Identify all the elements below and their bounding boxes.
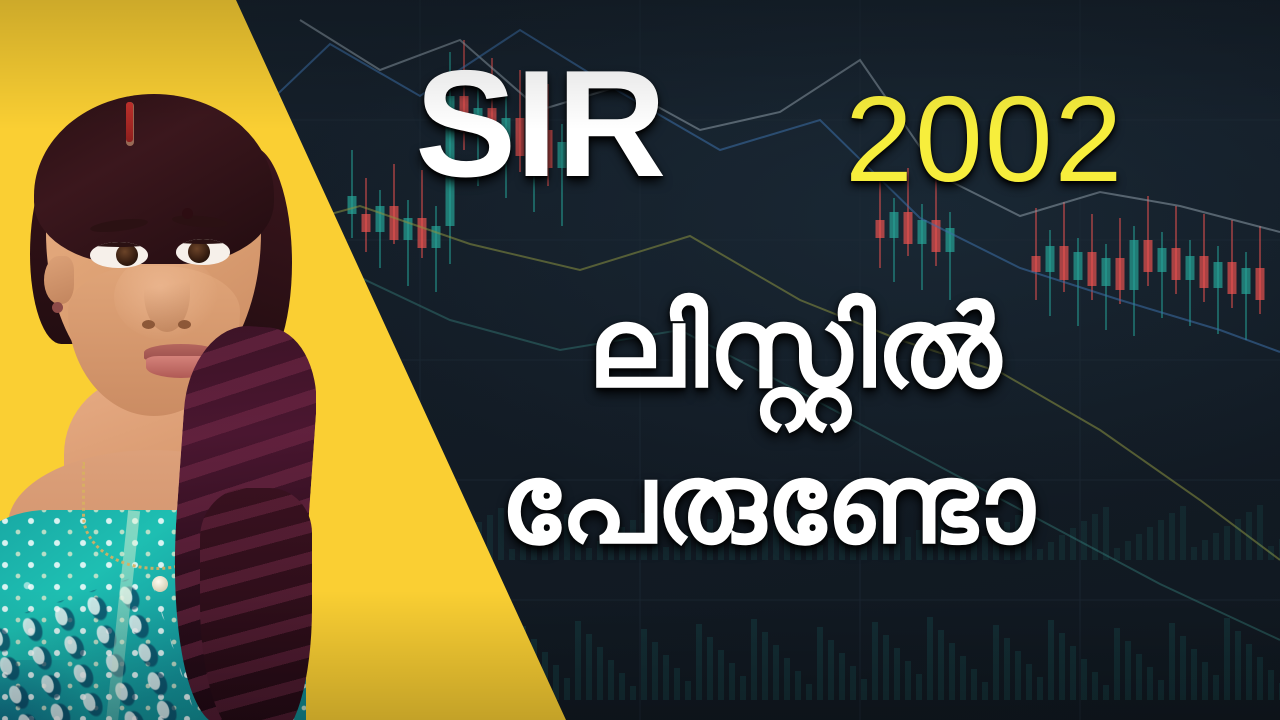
iris-left	[116, 244, 138, 266]
eyelash-right	[176, 239, 230, 244]
presenter-eye-right	[176, 239, 230, 265]
malayalam-headline-line-1: ലിസ്റ്റിൽ	[588, 292, 1001, 404]
iris-right	[188, 241, 210, 263]
headline-year: 2002	[845, 78, 1124, 200]
presenter-braid-lower	[200, 488, 312, 720]
bindi-mark	[182, 208, 193, 219]
presenter-eye-left	[90, 242, 148, 268]
sindoor-mark	[126, 102, 133, 142]
nostril-left	[142, 320, 155, 329]
earring	[52, 302, 63, 313]
youtube-thumbnail: SIR 2002 ലിസ്റ്റിൽ പേരുണ്ടോ	[0, 0, 1280, 720]
kurta-button	[152, 576, 168, 592]
nostril-right	[178, 320, 191, 329]
headline-sir: SIR	[415, 48, 665, 200]
presenter-ear	[44, 256, 74, 304]
eyelash-left	[90, 242, 148, 247]
malayalam-headline-line-2: പേരുണ്ടോ	[500, 448, 1034, 560]
presenter-hair-top	[34, 94, 274, 264]
